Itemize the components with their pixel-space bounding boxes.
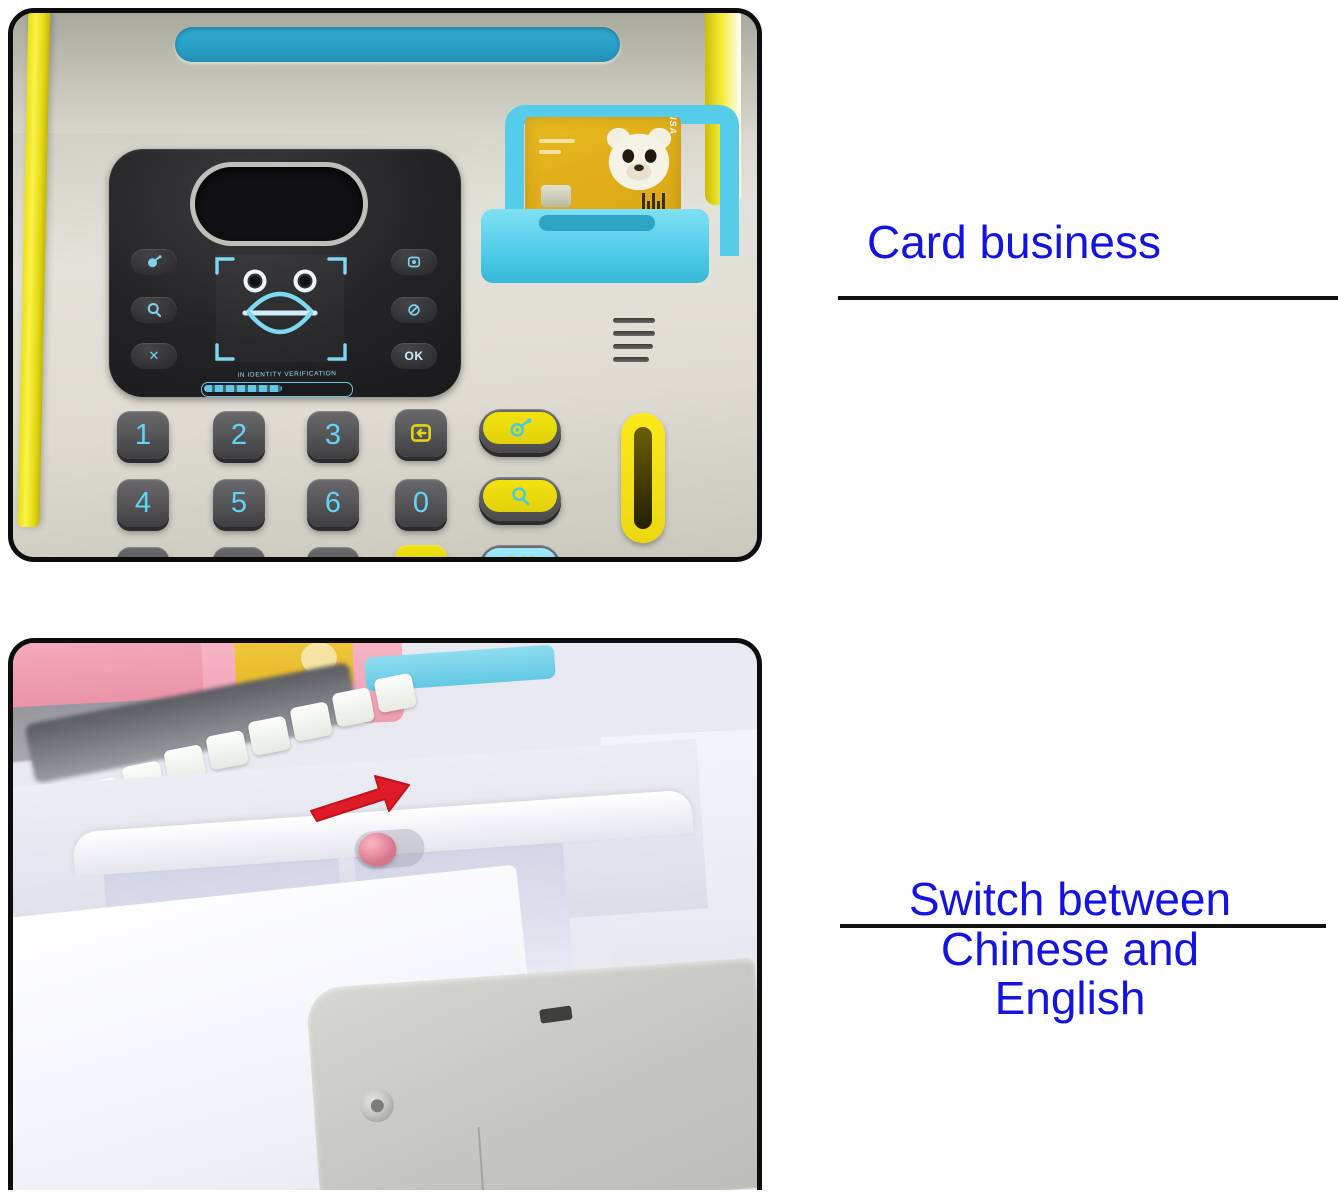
keypad-key-2[interactable]: 2 — [213, 411, 265, 459]
screen-button-cancel[interactable]: ✕ — [131, 343, 177, 369]
atm-handle-cutout — [195, 167, 363, 241]
screen-button-balance[interactable] — [391, 249, 437, 275]
caption-rule-top — [838, 296, 1338, 300]
caption-language-switch: Switch between Chinese and English — [832, 875, 1308, 1024]
card-chip — [541, 185, 571, 207]
deposit-coin-icon — [145, 253, 163, 271]
product-feature-sheet: VISA — [0, 0, 1338, 1193]
cover-latch-slot-icon — [539, 1005, 573, 1023]
caption-rule-bottom — [840, 924, 1326, 928]
deposit-key-icon — [507, 417, 533, 439]
keypad-key-ok[interactable]: OK — [479, 545, 561, 562]
verification-progress-bar — [201, 382, 353, 397]
keypad-key-8[interactable]: 8 — [213, 547, 265, 562]
speaker-grille — [613, 318, 655, 374]
keypad-key-card-insert[interactable] — [395, 409, 447, 457]
card-bear-icon — [599, 123, 677, 197]
battery-cover-seam — [478, 1127, 486, 1190]
photo-card-business: VISA — [8, 8, 762, 562]
withdraw-magnifier-icon — [145, 301, 163, 319]
card-brand-label: VISA — [668, 117, 678, 135]
card-print-lines — [539, 139, 575, 161]
battery-cover[interactable] — [306, 958, 762, 1190]
balance-icon — [405, 253, 423, 271]
screw-hole-icon — [359, 1087, 395, 1123]
red-arrow-icon — [305, 759, 425, 829]
keypad-key-1[interactable]: 1 — [117, 411, 169, 459]
keypad-key-person[interactable] — [395, 545, 447, 562]
toy-atm-top-view — [13, 643, 757, 1190]
cash-dispense-slot[interactable] — [621, 413, 665, 543]
keypad-key-deposit[interactable] — [479, 409, 561, 453]
screen-button-withdraw[interactable] — [131, 297, 177, 323]
keypad-key-5[interactable]: 5 — [213, 479, 265, 527]
photo-language-switch — [8, 638, 762, 1190]
keypad-key-withdraw[interactable] — [479, 477, 561, 521]
screen-button-transfer[interactable] — [391, 297, 437, 323]
atm-body: VISA — [13, 13, 757, 557]
keypad-key-3[interactable]: 3 — [307, 411, 359, 459]
transfer-icon — [405, 301, 423, 319]
keypad-key-0[interactable]: 0 — [395, 479, 447, 527]
keypad-key-7[interactable]: 7 — [117, 547, 169, 562]
atm-top-slot[interactable] — [175, 27, 620, 62]
withdraw-key-icon — [507, 485, 533, 507]
caption-card-business: Card business — [818, 218, 1210, 268]
face-scan-icon — [205, 247, 357, 373]
atm-display-bezel: IN IDENTITY VERIFICATION — [109, 149, 461, 397]
keypad-key-9[interactable]: 9 — [307, 547, 359, 562]
screen-button-ok[interactable]: OK — [391, 343, 437, 369]
card-holder-base — [481, 209, 709, 283]
card-insert-icon — [408, 420, 434, 446]
screen-button-deposit[interactable] — [131, 249, 177, 275]
keypad-key-4[interactable]: 4 — [117, 479, 169, 527]
keypad-key-6[interactable]: 6 — [307, 479, 359, 527]
keypad-ok-label: OK — [504, 553, 536, 563]
person-key-icon — [409, 557, 433, 562]
